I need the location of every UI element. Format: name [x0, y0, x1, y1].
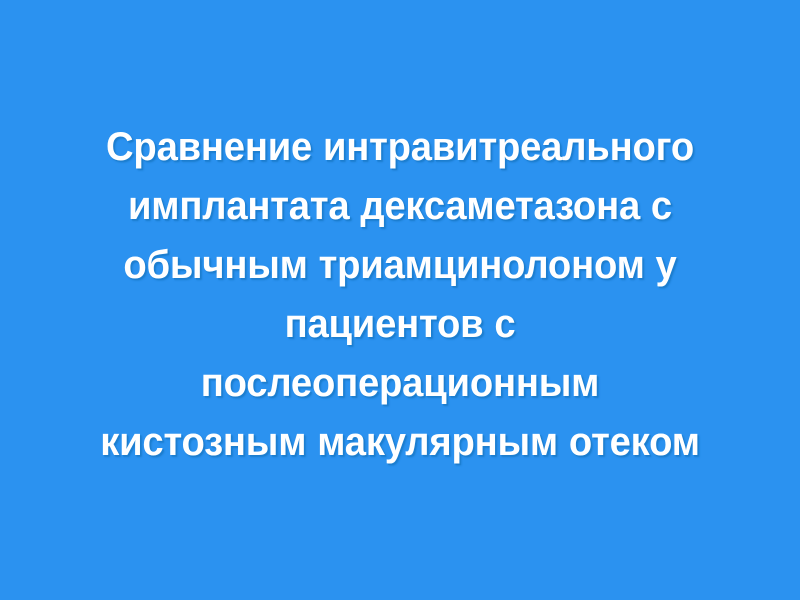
title-block: Сравнение интравитреального имплантата д…: [70, 118, 730, 482]
title-slide: Сравнение интравитреального имплантата д…: [0, 0, 800, 600]
page-title: Сравнение интравитреального имплантата д…: [85, 118, 715, 472]
